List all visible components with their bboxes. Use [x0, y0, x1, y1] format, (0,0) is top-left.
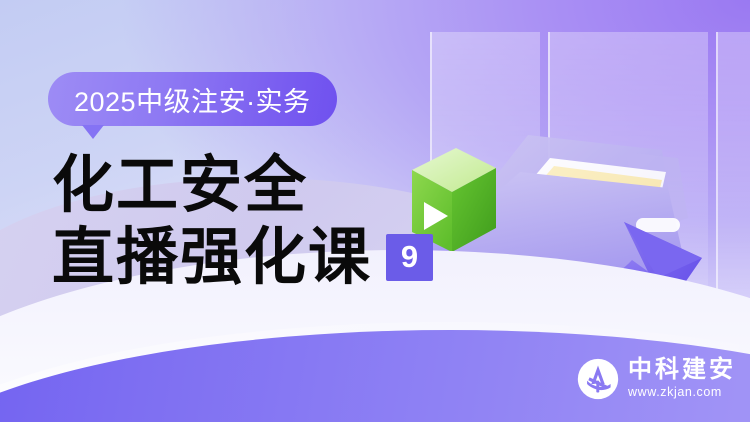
logo-company-name: 中科建安 — [628, 357, 736, 383]
course-banner: 2025中级注安·实务 化工安全 直播强化课 9 中科建安 www.zkjan.… — [0, 0, 750, 422]
headline-line-1-text: 化工安全 — [52, 148, 308, 221]
headline: 化工安全 直播强化课 9 — [52, 152, 433, 290]
tag-pill-wrapper: 2025中级注安·实务 — [48, 72, 337, 126]
headline-line-2: 直播强化课 9 — [52, 224, 433, 290]
headline-line-1: 化工安全 — [52, 152, 433, 218]
tag-pill[interactable]: 2025中级注安·实务 — [48, 72, 337, 126]
zkjan-circle-logo-icon — [577, 358, 619, 400]
folder-tab-notch — [636, 218, 680, 232]
episode-number-badge: 9 — [386, 234, 433, 281]
logo-text-block: 中科建安 www.zkjan.com — [628, 357, 736, 400]
logo-website-url: www.zkjan.com — [628, 385, 736, 400]
tag-pill-label: 2025中级注安·实务 — [74, 80, 311, 119]
brand-logo[interactable]: 中科建安 www.zkjan.com — [577, 357, 736, 400]
headline-line-2-text: 直播强化课 — [52, 224, 372, 290]
speech-bubble-tail-icon — [82, 125, 104, 139]
